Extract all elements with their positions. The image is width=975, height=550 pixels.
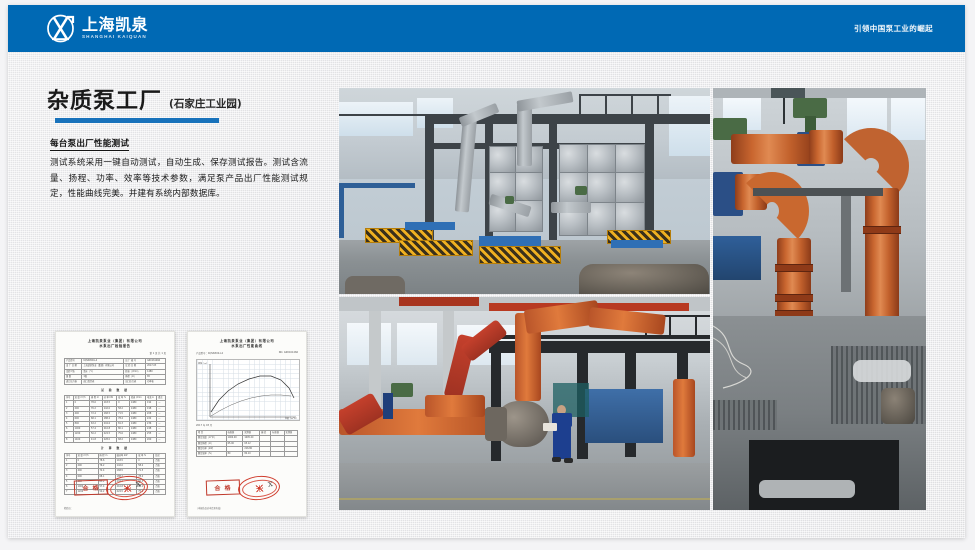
table-cell: 1480 bbox=[129, 437, 145, 442]
table-cell bbox=[284, 451, 297, 456]
table-row: 8140041.8228.068.21480260— bbox=[65, 437, 166, 442]
doc2-summary-table: 项 目标准值实测值偏 差标准值实测值 额定流量（m³/h）1000.001005… bbox=[196, 430, 298, 457]
doc2-meta-right: NO. GZ0161466 bbox=[279, 351, 298, 355]
brand-logo[interactable]: 上海凯泉 SHANGHAI KAIQUAN bbox=[46, 14, 148, 43]
kaiquan-logo-icon bbox=[46, 14, 77, 43]
chart-y-axis-label: 扬程（m） bbox=[198, 362, 208, 365]
table-cell: 8 bbox=[65, 437, 74, 442]
pump-test-hall-photo[interactable] bbox=[339, 88, 710, 294]
qualified-stamp: 合 格 bbox=[206, 479, 241, 495]
table-cell: 228.0 bbox=[102, 437, 116, 442]
doc2-footnote: （本报告仅对本台泵有效） bbox=[196, 506, 222, 510]
brand-name-en: SHANGHAI KAIQUAN bbox=[82, 35, 148, 40]
doc2-title-line2: 水泵出厂性能曲线 bbox=[196, 344, 298, 349]
doc1-header-table: 产品型号KQSN300-L4出 厂 编 号GZ0161466出 厂 日 期上海凯… bbox=[64, 358, 166, 385]
doc2-date: 2017 年 03 月 bbox=[196, 423, 212, 427]
section-heading: 每台泵出厂性能测试 bbox=[50, 139, 129, 151]
chart-x-axis-label: 流量（m³/h） bbox=[285, 417, 298, 420]
description-block: 每台泵出厂性能测试 测试系统采用一键自动测试，自动生成、保存测试报告。测试含流量… bbox=[50, 133, 308, 202]
table-cell: 80 bbox=[226, 451, 243, 456]
certificate-thumbnails: 上海凯泉泵业（集团）有限公司 水泵出厂检验报告 第 1 页 共 1 页 产品型号… bbox=[55, 331, 307, 517]
doc1-section-a-label: 试 验 数 据 bbox=[64, 388, 166, 392]
doc2-meta-left: 产品型号：KQSN300-L4 bbox=[196, 351, 223, 355]
brand-text: 上海凯泉 SHANGHAI KAIQUAN bbox=[82, 17, 148, 40]
table-cell bbox=[260, 451, 271, 456]
doc1-footnote: 检验员： bbox=[64, 506, 73, 510]
presentation-slide: 上海凯泉 SHANGHAI KAIQUAN 引领中国泵工业的崛起 杂质泵工厂 (… bbox=[8, 5, 965, 538]
screenshot-root: 上海凯泉 SHANGHAI KAIQUAN 引领中国泵工业的崛起 杂质泵工厂 (… bbox=[0, 0, 975, 550]
test-report-document[interactable]: 上海凯泉泵业（集团）有限公司 水泵出厂检验报告 第 1 页 共 1 页 产品型号… bbox=[55, 331, 175, 517]
inspector-signature: x bbox=[135, 476, 163, 493]
title-underline-rule bbox=[55, 118, 219, 123]
inspector-signature: x bbox=[267, 476, 295, 493]
page-subtitle: (石家庄工业园) bbox=[169, 96, 242, 113]
table-cell: 额定效率（%） bbox=[197, 451, 227, 456]
header-tagline: 引领中国泵工业的崛起 bbox=[854, 5, 933, 52]
table-cell: — bbox=[157, 437, 166, 442]
brand-name-cn: 上海凯泉 bbox=[82, 17, 148, 33]
table-cell: 41.8 bbox=[89, 437, 102, 442]
header-bar: 上海凯泉 SHANGHAI KAIQUAN 引领中国泵工业的崛起 bbox=[8, 5, 965, 52]
table-cell: 功率表 bbox=[146, 379, 166, 384]
table-cell: 68.2 bbox=[117, 437, 130, 442]
doc1-stamp-row: 合 格 x bbox=[64, 476, 166, 502]
page-title: 杂质泵工厂 bbox=[47, 91, 162, 113]
table-cell: 260 bbox=[146, 437, 157, 442]
table-cell: 1400 bbox=[73, 437, 89, 442]
performance-curve-document[interactable]: 上海凯泉泵业（集团）有限公司 水泵出厂性能曲线 产品型号：KQSN300-L4 … bbox=[187, 331, 307, 517]
doc1-meta: 第 1 页 共 1 页 bbox=[64, 351, 166, 355]
table-cell: 进口真空表 bbox=[82, 379, 124, 384]
doc2-stamp-row: 合 格 x bbox=[196, 476, 298, 502]
table-row: 额定效率（%）8080.10 bbox=[197, 451, 298, 456]
table-cell: 80.10 bbox=[243, 451, 260, 456]
table-row: 进口压力表进口真空表出口压力表功率表 bbox=[65, 379, 166, 384]
doc1-data-table: 序号流 量 m³/h扬 程 m功 率 kW效 率 %转速 r/min电流 A备注… bbox=[64, 395, 166, 443]
section-body-text: 测试系统采用一键自动测试，自动生成、保存测试报告。测试含流量、扬程、功率、效率等… bbox=[50, 156, 308, 202]
table-cell: 出口压力表 bbox=[124, 379, 146, 384]
table-cell bbox=[271, 451, 284, 456]
table-cell: 进口压力表 bbox=[65, 379, 82, 384]
doc1-section-b-label: 计 算 数 据 bbox=[64, 446, 166, 450]
orange-elbow-piping-photo[interactable] bbox=[713, 88, 926, 510]
pump-performance-chart: 扬程（m） 流量（m³/h） bbox=[196, 359, 300, 421]
slide-title-row: 杂质泵工厂 (石家庄工业园) bbox=[47, 91, 242, 113]
doc1-title-line2: 水泵出厂检验报告 bbox=[64, 344, 166, 349]
qualified-stamp: 合 格 bbox=[74, 479, 109, 495]
pump-piping-worker-photo[interactable] bbox=[339, 297, 710, 510]
photo-collage bbox=[339, 88, 926, 510]
